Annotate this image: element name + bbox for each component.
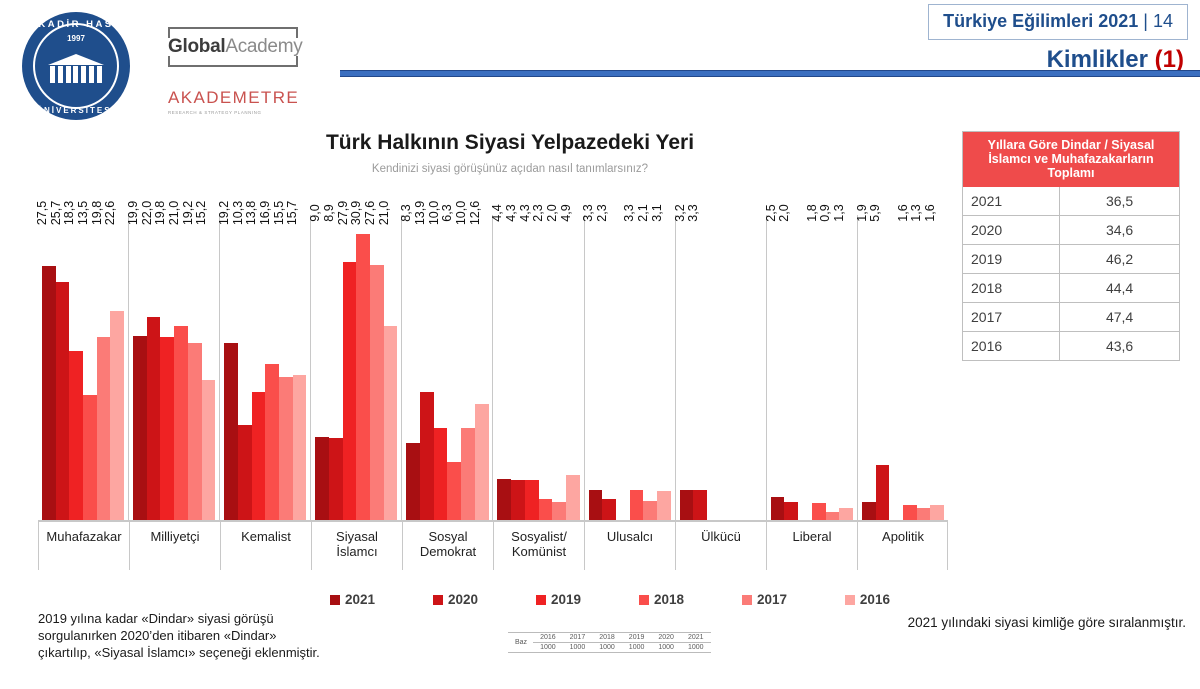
bar-value-label: 25,7 [49,201,63,225]
global-academy-logo: GlobalAcademy [168,36,298,58]
bar-value-label: 21,0 [377,201,391,225]
bar[interactable]: 16,9 [265,364,279,520]
bar-value-label: 4,4 [490,204,504,221]
base-year: 2017 [563,633,593,643]
base-value: 1000 [592,643,622,653]
bar-slot: 2,0 [552,215,566,520]
bracket-bottom-icon [168,58,298,67]
legend-label: 2017 [757,592,787,607]
bar-value-label: 3,2 [673,204,687,221]
bar-value-label: 9,0 [308,204,322,221]
bar-value-label: 13,5 [76,201,90,225]
bar-group-bars: 3,23,3 [676,215,766,520]
bar[interactable]: 4,9 [566,475,580,520]
bar-group-bars: 1,95,91,61,31,6 [858,215,948,520]
bar-slot [734,215,748,520]
bar[interactable]: 3,3 [630,490,644,521]
bar-slot: 1,3 [839,215,853,520]
bar-group: 8,313,910,06,310,012,6 [401,215,492,520]
table-row: 201844,4 [963,273,1179,302]
base-year: 2019 [622,633,652,643]
bar-group-bars: 19,210,313,816,915,515,7 [220,215,310,520]
bar[interactable]: 22,6 [110,311,124,520]
legend-item[interactable]: 2016 [845,592,890,607]
table-cell-value: 36,5 [1060,187,1179,215]
bar-value-label: 8,3 [399,204,413,221]
bar[interactable]: 19,2 [224,343,238,520]
bar-group-bars: 27,525,718,313,519,822,6 [38,215,128,520]
bar-value-label: 27,5 [35,201,49,225]
report-title-text: Türkiye Eğilimleri 2021 [943,11,1138,31]
bar[interactable]: 1,3 [839,508,853,520]
bar-value-label: 12,6 [468,201,482,225]
bar-value-label: 27,6 [363,201,377,225]
bar[interactable]: 5,9 [876,465,890,520]
legend-swatch [639,595,649,605]
bar-value-label: 2,3 [595,204,609,221]
legend-item[interactable]: 2019 [536,592,581,607]
seal-outer: KADİR HAS 1997 ÜNİVERSİTESİ [22,12,130,120]
summary-table: Yıllara Göre Dindar / Siyasal İslamcı ve… [962,131,1180,361]
bar[interactable]: 10,3 [238,425,252,520]
bar-slot: 27,9 [343,215,357,520]
bar-value-label: 22,6 [103,201,117,225]
bar[interactable]: 19,8 [160,337,174,520]
page-title-index: (1) [1155,46,1184,73]
bar-slot: 21,0 [384,215,398,520]
bar-value-label: 15,2 [194,201,208,225]
bar[interactable]: 0,9 [826,512,840,520]
table-cell-year: 2019 [963,245,1060,273]
bar-slot: 21,0 [174,215,188,520]
chart-legend: 202120202019201820172016 [330,592,890,607]
bar-group-bars: 3,32,33,32,13,1 [585,215,675,520]
bar-groups: 27,525,718,313,519,822,619,922,019,821,0… [38,215,948,520]
bar-value-label: 6,3 [440,204,454,221]
bar-slot: 18,3 [69,215,83,520]
bar[interactable]: 6,3 [447,462,461,520]
x-axis-category: Ulusalcı [584,522,675,570]
base-year: 2016 [533,633,563,643]
base-value: 1000 [533,643,563,653]
bar[interactable]: 3,2 [680,490,694,520]
global-academy-light-text: Academy [225,36,302,57]
legend-swatch [742,595,752,605]
table-cell-value: 46,2 [1060,245,1179,273]
bar-value-label: 2,1 [636,204,650,221]
table-cell-year: 2017 [963,303,1060,331]
bar-slot: 13,8 [252,215,266,520]
bar-group-bars: 9,08,927,930,927,621,0 [311,215,401,520]
bar-value-label: 1,3 [909,204,923,221]
summary-table-header: Yıllara Göre Dindar / Siyasal İslamcı ve… [963,132,1179,187]
bar-slot [707,215,721,520]
bar-value-label: 19,2 [217,201,231,225]
bar-slot: 8,9 [329,215,343,520]
bar-slot [748,215,762,520]
legend-swatch [845,595,855,605]
bar-slot: 25,7 [56,215,70,520]
bracket-top-icon [168,27,298,36]
legend-swatch [330,595,340,605]
x-axis-category: Ülkücü [675,522,766,570]
bar-slot: 3,3 [589,215,603,520]
university-name-bottom: ÜNİVERSİTESİ [22,106,130,115]
bar-slot: 2,1 [643,215,657,520]
bar-value-label: 1,8 [805,204,819,221]
legend-item[interactable]: 2018 [639,592,684,607]
bar-value-label: 2,3 [531,204,545,221]
bar-slot: 0,9 [826,215,840,520]
bar-slot: 8,3 [406,215,420,520]
table-cell-year: 2021 [963,187,1060,215]
bar-value-label: 8,9 [322,204,336,221]
bar-slot: 10,0 [434,215,448,520]
bar-value-label: 3,3 [581,204,595,221]
bar-value-label: 2,0 [777,204,791,221]
akademetre-wordmark: AKADEMETRE [168,88,303,108]
bar-slot: 2,3 [602,215,616,520]
bar-value-label: 13,8 [244,201,258,225]
bar-slot: 15,5 [279,215,293,520]
akademetre-tagline: RESEARCH & STRATEGY PLANNING [168,110,303,115]
bar-group: 27,525,718,313,519,822,6 [38,215,128,520]
bar-slot: 19,8 [160,215,174,520]
bar-value-label: 4,3 [504,204,518,221]
bar[interactable]: 22,0 [147,317,161,520]
bar-slot: 16,9 [265,215,279,520]
bar-group: 19,210,313,816,915,515,7 [219,215,310,520]
table-row: 201643,6 [963,331,1179,360]
bar[interactable]: 9,0 [315,437,329,520]
bar-slot: 2,0 [784,215,798,520]
bar-slot: 13,5 [83,215,97,520]
bar[interactable]: 2,3 [539,499,553,520]
bar-value-label: 19,8 [153,201,167,225]
footnote-left: 2019 yılına kadar «Dindar» siyasi görüşü… [38,610,323,661]
bar[interactable]: 1,3 [917,508,931,520]
bar-slot: 6,3 [447,215,461,520]
bar-slot [889,215,903,520]
bar[interactable]: 2,5 [771,497,785,520]
table-cell-year: 2016 [963,332,1060,360]
bar-slot: 15,2 [202,215,216,520]
base-value: 1000 [563,643,593,653]
bar[interactable]: 15,7 [293,375,307,520]
bar[interactable]: 15,5 [279,377,293,520]
bar[interactable]: 13,5 [83,395,97,520]
header-divider [340,70,1200,77]
table-row: 201946,2 [963,244,1179,273]
bar-slot: 1,6 [903,215,917,520]
table-cell-value: 43,6 [1060,332,1179,360]
bar-slot [798,215,812,520]
bar-group: 3,23,3 [675,215,766,520]
report-title-badge: Türkiye Eğilimleri 2021 | 14 [928,4,1188,40]
bar-group: 2,52,01,80,91,3 [766,215,857,520]
footnote-right: 2021 yılındaki siyasi kimliğe göre sıral… [906,613,1186,632]
bar[interactable]: 18,3 [69,351,83,520]
legend-item[interactable]: 2021 [330,592,375,607]
bar-value-label: 1,9 [855,204,869,221]
bar-slot: 2,3 [539,215,553,520]
bar-value-label: 16,9 [258,201,272,225]
table-cell-value: 34,6 [1060,216,1179,244]
bar-slot: 1,3 [917,215,931,520]
bar-slot: 4,3 [511,215,525,520]
bar-slot: 5,9 [876,215,890,520]
bar[interactable]: 19,2 [188,343,202,520]
bar-value-label: 5,9 [868,204,882,221]
bar-value-label: 30,9 [349,201,363,225]
bar-slot: 30,9 [356,215,370,520]
table-cell-value: 47,4 [1060,303,1179,331]
table-row: 201747,4 [963,302,1179,331]
table-cell-year: 2018 [963,274,1060,302]
bar[interactable]: 2,3 [602,499,616,520]
bar[interactable]: 21,0 [384,326,398,520]
bar-slot: 3,2 [680,215,694,520]
bar-value-label: 1,6 [896,204,910,221]
bar[interactable]: 13,9 [420,392,434,520]
bar-value-label: 2,0 [545,204,559,221]
bar-slot: 13,9 [420,215,434,520]
bar-value-label: 18,3 [62,201,76,225]
legend-label: 2018 [654,592,684,607]
bar-slot [616,215,630,520]
table-cell-year: 2020 [963,216,1060,244]
bar-slot: 2,5 [771,215,785,520]
bar[interactable]: 1,6 [930,505,944,520]
bar-value-label: 15,7 [285,201,299,225]
bar-value-label: 13,9 [413,201,427,225]
bar[interactable]: 2,0 [784,502,798,520]
legend-label: 2021 [345,592,375,607]
bar-slot: 1,9 [862,215,876,520]
x-axis-category: SosyalDemokrat [402,522,493,570]
page-title-text: Kimlikler [1047,46,1148,73]
bar-slot: 10,0 [461,215,475,520]
bar-slot: 1,8 [812,215,826,520]
legend-swatch [536,595,546,605]
bar[interactable]: 2,1 [643,501,657,520]
bar[interactable]: 13,8 [252,392,266,520]
seal-inner-ring [33,23,119,109]
bar[interactable]: 27,5 [42,266,56,520]
bar[interactable]: 4,3 [511,480,525,520]
bar-slot: 15,7 [293,215,307,520]
bar-value-label: 21,0 [167,201,181,225]
kadir-has-university-logo: KADİR HAS 1997 ÜNİVERSİTESİ [22,12,130,120]
bar-slot: 3,3 [693,215,707,520]
bar-group-bars: 8,313,910,06,310,012,6 [402,215,492,520]
bar-value-label: 0,9 [818,204,832,221]
bar-value-label: 19,9 [126,201,140,225]
bar-value-label: 15,5 [272,201,286,225]
x-axis-category: Liberal [766,522,857,570]
bar[interactable]: 19,8 [97,337,111,520]
bar-slot: 19,8 [97,215,111,520]
base-year: 2018 [592,633,622,643]
bar-slot: 12,6 [475,215,489,520]
bar-group: 3,32,33,32,13,1 [584,215,675,520]
x-axis-category: Apolitik [857,522,948,570]
chart-title: Türk Halkının Siyasi Yelpazedeki Yeri [160,131,860,155]
bar[interactable]: 8,3 [406,443,420,520]
bar-slot: 27,5 [42,215,56,520]
bar[interactable]: 27,9 [343,262,357,520]
bar-value-label: 19,8 [90,201,104,225]
bar-value-label: 4,9 [559,204,573,221]
bar-value-label: 10,3 [231,201,245,225]
bar-slot: 4,9 [566,215,580,520]
bar-slot: 9,0 [315,215,329,520]
bar-group: 9,08,927,930,927,621,0 [310,215,401,520]
bar[interactable]: 1,6 [903,505,917,520]
bar-slot: 19,2 [224,215,238,520]
x-axis-category: Sosyalist/Komünist [493,522,584,570]
summary-table-body: 202136,5202034,6201946,2201844,4201747,4… [963,187,1179,360]
bar-chart-plot-area: 27,525,718,313,519,822,619,922,019,821,0… [38,215,948,520]
bar-value-label: 4,3 [518,204,532,221]
x-axis-category: Milliyetçi [129,522,220,570]
global-academy-bold-text: Global [168,36,225,57]
bar-slot: 3,3 [630,215,644,520]
bar[interactable]: 19,9 [133,336,147,520]
bar-value-label: 3,3 [686,204,700,221]
bar-group: 19,922,019,821,019,215,2 [128,215,219,520]
bar-slot: 27,6 [370,215,384,520]
bar[interactable]: 4,3 [525,480,539,520]
bar[interactable]: 2,0 [552,502,566,520]
legend-swatch [433,595,443,605]
x-axis-category: Kemalist [220,522,311,570]
base-year: 2021 [681,633,711,643]
bar-value-label: 1,3 [832,204,846,221]
bar[interactable]: 1,8 [812,503,826,520]
chart-subtitle: Kendinizi siyasi görüşünüz açıdan nasıl … [160,163,860,175]
bar-group: 1,95,91,61,31,6 [857,215,948,520]
table-cell-value: 44,4 [1060,274,1179,302]
bar-slot: 19,2 [188,215,202,520]
building-icon [48,54,104,84]
bar-value-label: 22,0 [140,201,154,225]
legend-item[interactable]: 2020 [433,592,478,607]
x-axis-category-labels: MuhafazakarMilliyetçiKemalistSiyasalİsla… [38,522,948,570]
bar[interactable]: 30,9 [356,234,370,520]
bar[interactable]: 27,6 [370,265,384,520]
slide-page: KADİR HAS 1997 ÜNİVERSİTESİ GlobalAcadem… [0,0,1200,689]
bar[interactable]: 15,2 [202,380,216,520]
bar-value-label: 10,0 [454,201,468,225]
bar[interactable]: 12,6 [475,404,489,520]
page-number: 14 [1153,11,1173,31]
bar-value-label: 3,3 [622,204,636,221]
bar[interactable]: 10,0 [461,428,475,520]
x-axis-category: Siyasalİslamcı [311,522,402,570]
bar-value-label: 3,1 [650,204,664,221]
legend-label: 2016 [860,592,890,607]
base-size-table: Baz2016201720182019202020211000100010001… [508,632,711,653]
akademetre-logo: AKADEMETRE RESEARCH & STRATEGY PLANNING [168,88,303,115]
x-axis-category: Muhafazakar [38,522,129,570]
bar[interactable]: 3,1 [657,491,671,520]
bar[interactable]: 3,3 [693,490,707,521]
bar-value-label: 10,0 [427,201,441,225]
bar-slot [721,215,735,520]
bar-value-label: 1,6 [923,204,937,221]
bar-group-bars: 4,44,34,32,32,04,9 [493,215,583,520]
bar-group-bars: 19,922,019,821,019,215,2 [129,215,219,520]
bar-slot: 19,9 [133,215,147,520]
bar-slot: 4,4 [497,215,511,520]
base-label: Baz [508,633,533,653]
bar[interactable]: 1,9 [862,502,876,520]
bar-value-label: 27,9 [336,201,350,225]
bar[interactable]: 10,0 [434,428,448,520]
bar-slot: 22,6 [110,215,124,520]
bar-group: 4,44,34,32,32,04,9 [492,215,583,520]
bar[interactable]: 21,0 [174,326,188,520]
table-row: 202034,6 [963,215,1179,244]
legend-label: 2019 [551,592,581,607]
base-value: 1000 [651,643,681,653]
bar[interactable]: 8,9 [329,438,343,520]
badge-separator: | [1143,11,1148,31]
bar[interactable]: 4,4 [497,479,511,520]
bar-slot: 22,0 [147,215,161,520]
base-year: 2020 [651,633,681,643]
bar-value-label: 2,5 [764,204,778,221]
bar-group-bars: 2,52,01,80,91,3 [767,215,857,520]
bar-slot: 4,3 [525,215,539,520]
legend-label: 2020 [448,592,478,607]
bar-value-label: 19,2 [181,201,195,225]
bar[interactable]: 3,3 [589,490,603,521]
table-row: 202136,5 [963,187,1179,215]
bar[interactable]: 25,7 [56,282,70,520]
base-value: 1000 [622,643,652,653]
bar-slot: 1,6 [930,215,944,520]
bar-slot: 10,3 [238,215,252,520]
base-value: 1000 [681,643,711,653]
bar-slot: 3,1 [657,215,671,520]
legend-item[interactable]: 2017 [742,592,787,607]
